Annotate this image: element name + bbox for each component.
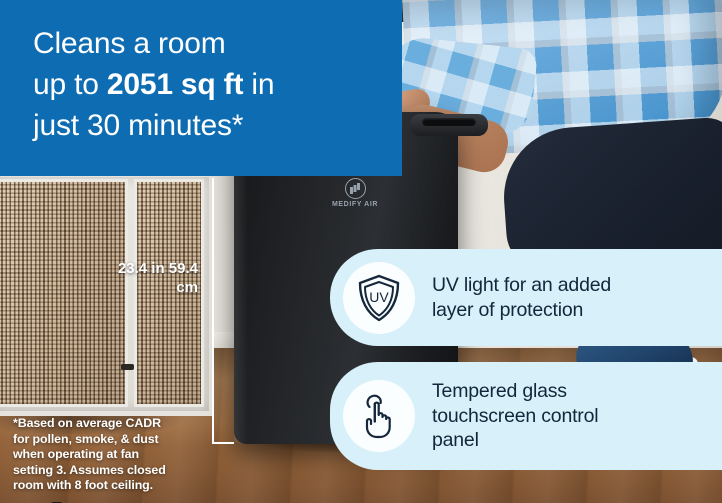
touch-hand-icon-circle	[343, 380, 415, 452]
headline-banner: Cleans a room up to 2051 sq ft in just 3…	[0, 0, 402, 176]
touch-hand-icon	[356, 391, 402, 441]
purifier-air-vent	[422, 118, 476, 126]
headline-highlight: 2051 sq ft	[107, 68, 243, 101]
svg-text:UV: UV	[369, 289, 389, 305]
dimension-label: 23.4 in 59.4 cm	[108, 259, 198, 297]
callout-touchscreen: Tempered glass touchscreen control panel	[330, 362, 722, 470]
dimension-end-tick	[212, 442, 234, 444]
brand-name-label: MEDIFY AIR	[322, 201, 388, 208]
callout-touchscreen-label: Tempered glass touchscreen control panel	[432, 379, 598, 453]
marketing-image-canvas: MEDIFY AIR Cleans a room up to 2051 sq f…	[0, 0, 722, 503]
cabinet-handle	[121, 364, 134, 370]
medify-emblem-icon	[345, 178, 366, 199]
callout-uv-label: UV light for an added layer of protectio…	[432, 273, 611, 322]
product-brand-mark: MEDIFY AIR	[322, 178, 388, 208]
uv-shield-icon-circle: UV	[343, 262, 415, 334]
footnote-text: *Based on average CADR for pollen, smoke…	[13, 416, 213, 494]
dimension-line	[212, 178, 214, 444]
headline-text: Cleans a room up to 2051 sq ft in just 3…	[33, 23, 386, 146]
uv-shield-icon: UV	[356, 273, 402, 323]
callout-uv-light: UV UV light for an added layer of protec…	[330, 249, 722, 346]
